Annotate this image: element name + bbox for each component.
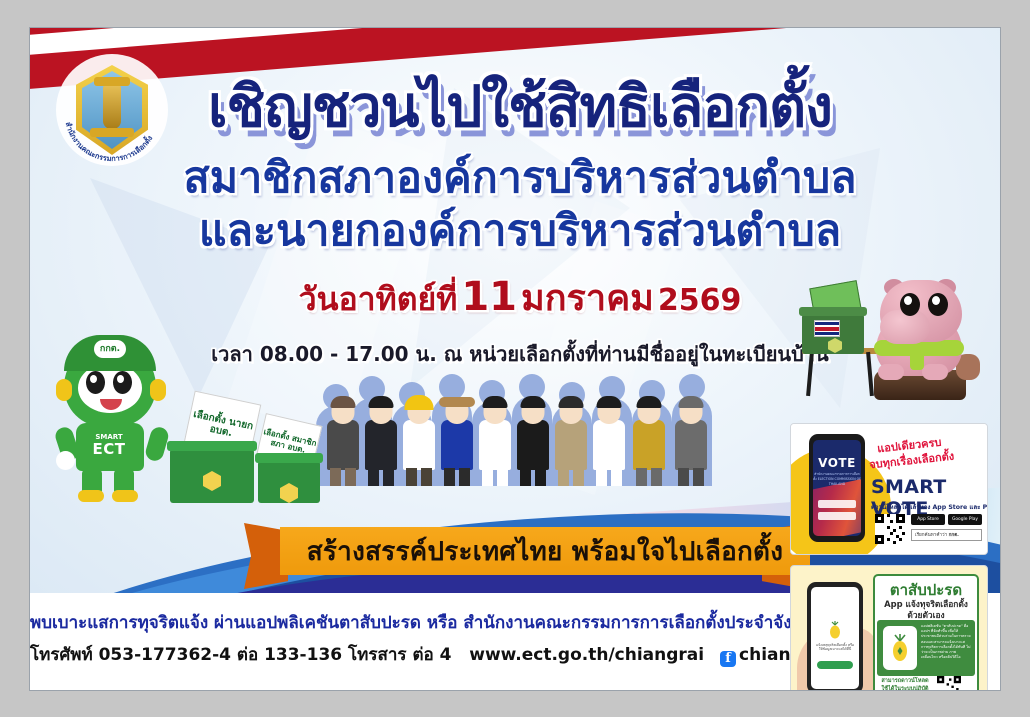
smart-vote-search-hint: เรียกค้นหาคำว่า กกต. [911, 529, 982, 541]
hippo-ballot-box [802, 314, 864, 354]
footer-phone: โทรศัพท์ 053-177362-4 ต่อ 133-136 โทรสาร… [30, 645, 451, 665]
ballot-boxes-group: เลือกตั้ง นายก อบต. เลือกตั้ง สมาชิกสภา … [170, 393, 320, 503]
slogan-banner: สร้างสรรค์ประเทศไทย พร้อมใจไปเลือกตั้ง [280, 527, 810, 575]
ballot-box-large [170, 449, 254, 503]
date-day-prefix: วันอาทิตย์ที่ [299, 280, 458, 318]
mascot-shirt-main-text: ECT [86, 440, 132, 458]
search-hint-value: กกต. [949, 532, 959, 539]
emblem-circular-text: สำนักงานคณะกรรมการการเลือกตั้ง [56, 54, 168, 166]
facebook-icon[interactable]: f [720, 651, 736, 667]
mascot-ear-left [56, 379, 72, 401]
pineapple-footnote: สามารถดาวน์โหลดใช้ได้ในระบบปฏิบัติการ IO… [877, 678, 933, 690]
poster-frame: สำนักงานคณะกรรมการการเลือกตั้ง เชิญชวนไป… [30, 28, 1000, 690]
footer-report-line: พบเบาะแสการทุจริตแจ้ง ผ่านแอปพลิเคชันตาส… [30, 609, 790, 636]
phone-list-row [818, 500, 856, 508]
mascot-shoe-left [78, 490, 104, 502]
smart-vote-qr-code[interactable] [875, 514, 905, 544]
pineapple-phone-button[interactable] [817, 661, 853, 669]
mascot-cap-badge: กกต. [94, 340, 126, 358]
ballot-box-small [258, 461, 320, 503]
mascot-hand [56, 451, 75, 470]
hippo-mascot-moodeng [796, 250, 986, 400]
mascot-eye-left [86, 371, 105, 394]
pineapple-fruit-icon [890, 634, 910, 662]
footer-contact-line: โทรศัพท์ 053-177362-4 ต่อ 133-136 โทรสาร… [30, 641, 790, 668]
phone-app-subtitle: สำนักงานคณะกรรมการการเลือกตั้ง ELECTION … [813, 472, 861, 486]
mascot-ear-right [150, 379, 166, 401]
phone-app-name: VOTE [813, 456, 861, 470]
pineapple-app-card[interactable]: แจ้งเหตุทุจริตเลือกตั้ง หรือให้ข้อมูลเบา… [790, 565, 988, 690]
citizens-illustration [316, 358, 734, 486]
smart-vote-card[interactable]: VOTE สำนักงานคณะกรรมการการเลือกตั้ง ELEC… [790, 423, 988, 555]
thai-flag-icon [814, 320, 840, 337]
smart-vote-download-note: ดาวน์โหลดได้แล้วทาง App Store และ Play S… [871, 502, 988, 512]
phone-list-row [818, 512, 856, 520]
election-date: วันอาทิตย์ที่11มกราคม2569 [170, 269, 870, 326]
smart-ect-mascot: กกต. SMART ECT [56, 335, 166, 505]
search-hint-label: เรียกค้นหาคำว่า [915, 532, 947, 539]
footer-website[interactable]: www.ect.go.th/chiangrai [469, 645, 704, 665]
date-month: มกราคม [521, 278, 654, 319]
hippo-eye-left [900, 293, 920, 316]
pineapple-phone-text: แจ้งเหตุทุจริตเลือกตั้ง หรือให้ข้อมูลเบา… [815, 643, 855, 652]
mascot-eye-right [113, 371, 132, 394]
play-store-badge[interactable]: Google Play [948, 514, 982, 525]
date-day-number: 11 [461, 274, 517, 320]
emblem-org-text: สำนักงานคณะกรรมการการเลือกตั้ง [64, 121, 155, 163]
pineapple-body-text: แอปพลิเคชัน "ตาสับปะรด" คือ แอปฯ ที่จัดท… [921, 624, 971, 660]
date-year: 2569 [658, 283, 742, 318]
pineapple-phone-screen: แจ้งเหตุทุจริตเลือกตั้ง หรือให้ข้อมูลเบา… [811, 587, 859, 689]
pineapple-icon [828, 621, 842, 639]
pineapple-qr-code[interactable] [937, 676, 961, 690]
subtitle-line-1: สมาชิกสภาองค์การบริหารส่วนตำบล [170, 153, 870, 204]
mascot-shoe-right [112, 490, 138, 502]
smart-vote-phone-mockup: VOTE สำนักงานคณะกรรมการการเลือกตั้ง ELEC… [809, 434, 865, 542]
pineapple-phone-mockup: แจ้งเหตุทุจริตเลือกตั้ง หรือให้ข้อมูลเบา… [807, 582, 863, 690]
app-store-badge[interactable]: App Store [911, 514, 945, 525]
hippo-paw-left [878, 364, 904, 380]
svg-text:สำนักงานคณะกรรมการการเลือกตั้ง: สำนักงานคณะกรรมการการเลือกตั้ง [64, 121, 155, 163]
smart-vote-phone-screen: VOTE สำนักงานคณะกรรมการการเลือกตั้ง ELEC… [813, 440, 861, 536]
subtitle-line-2: และนายกองค์การบริหารส่วนตำบล [170, 206, 870, 257]
ect-seal-icon [828, 338, 842, 353]
slogan-text: สร้างสรรค์ประเทศไทย พร้อมใจไปเลือกตั้ง [307, 531, 784, 572]
page-title: เชิญชวนไปใช้สิทธิเลือกตั้ง [170, 78, 870, 137]
hippo-eye-right [928, 293, 948, 316]
hippo-paw-right [922, 364, 948, 380]
headline-block: เชิญชวนไปใช้สิทธิเลือกตั้ง สมาชิกสภาองค์… [170, 78, 870, 370]
hippo-snout [880, 310, 930, 344]
ect-emblem-icon: สำนักงานคณะกรรมการการเลือกตั้ง [56, 54, 168, 166]
